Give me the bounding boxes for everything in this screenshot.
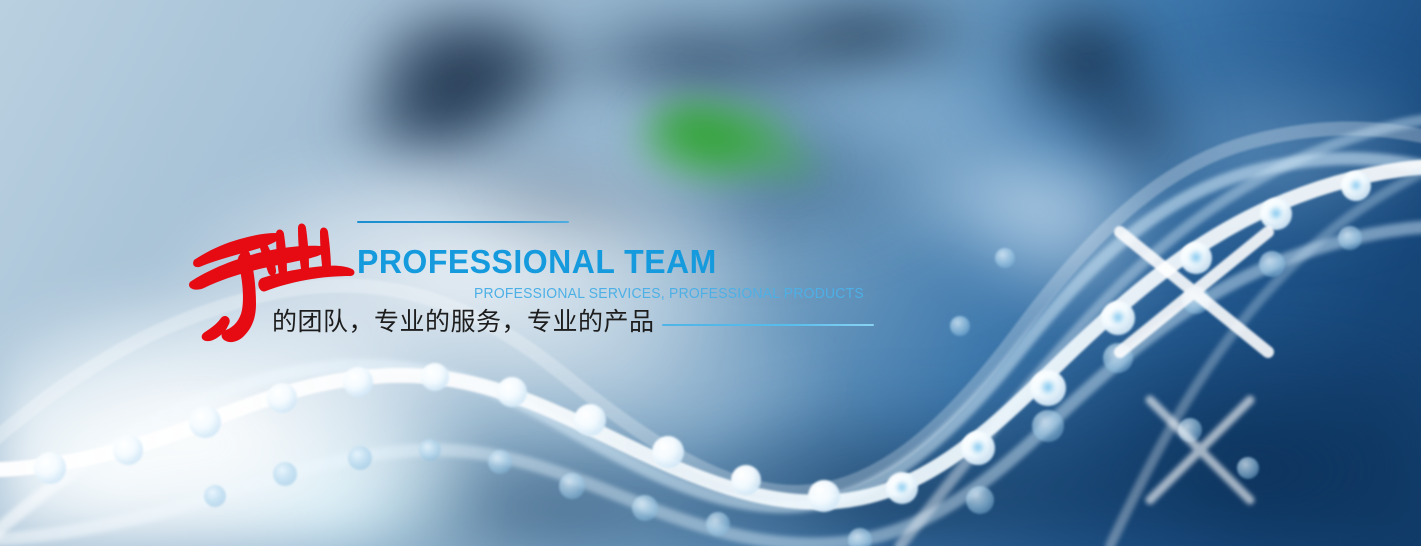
banner-text-block: PROFESSIONAL TEAM PROFESSIONAL SERVICES,… (0, 0, 1421, 546)
subtitle: PROFESSIONAL SERVICES, PROFESSIONAL PROD… (474, 285, 864, 303)
tagline-chinese: 的团队，专业的服务，专业的产品 (272, 305, 655, 339)
page-title: PROFESSIONAL TEAM (357, 243, 717, 281)
divider-line-top (357, 221, 569, 223)
divider-line-bottom (662, 324, 874, 326)
hero-banner: PROFESSIONAL TEAM PROFESSIONAL SERVICES,… (0, 0, 1421, 546)
